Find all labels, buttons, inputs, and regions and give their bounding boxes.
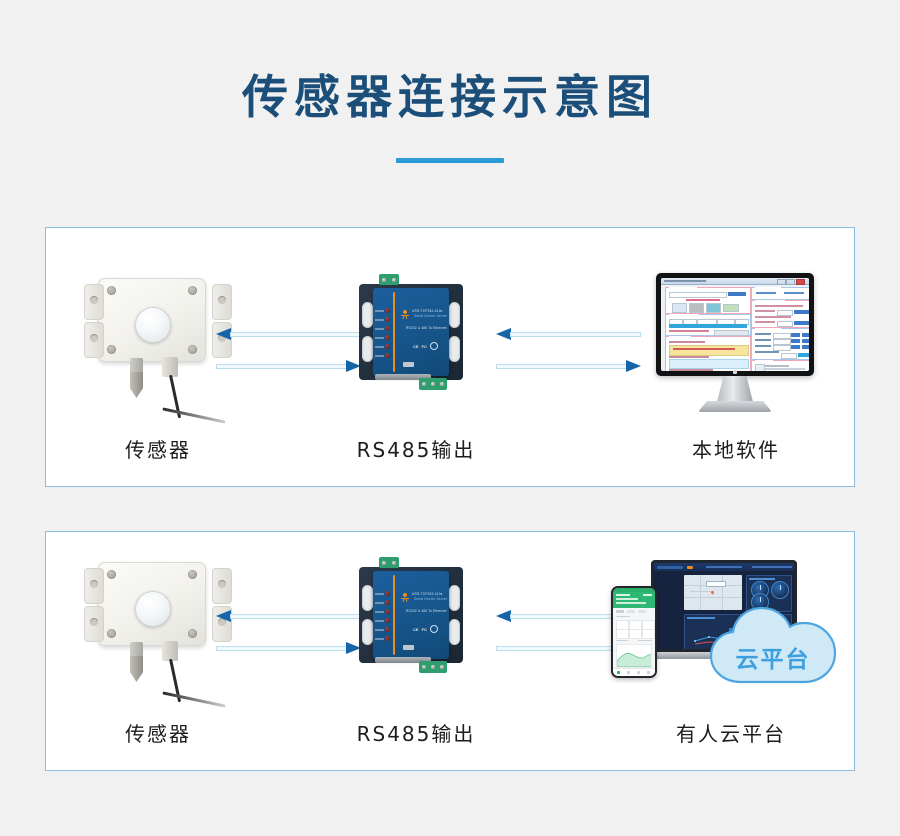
mount-slot [362,302,373,328]
sensor-mount-ear [84,322,104,358]
rs485-terminal-block [419,378,447,390]
diagram-panel-cloud-platform: USR-TCP232-410s Serial Device Server RS2… [45,531,855,771]
arrow-shaft [216,364,347,369]
connector-sensor-converter [216,328,361,374]
log-label [669,341,705,343]
vendor-name [765,365,789,367]
arrow-left [496,328,641,340]
write-button [794,321,809,325]
title-underline-rule [396,158,504,163]
sensor-enclosure [98,562,206,646]
converter-accent-curve [393,292,395,372]
arrow-head-left-icon [216,328,231,340]
arrow-head-right-icon [626,360,641,372]
arrow-right [216,642,361,654]
brand-logo-icon [401,310,409,319]
power-terminal-block [379,557,399,568]
mount-slot [449,302,460,328]
log-output-group [665,336,751,371]
vendor-detail [765,368,805,370]
status-led [385,353,390,358]
status-led [385,326,390,331]
led-label [375,611,384,613]
close-button [796,279,805,285]
converter-subtitle-text: Serial Device Server [414,314,447,318]
open-port-button [669,324,747,328]
sensor-mount-ear [212,568,232,604]
arrow-shaft [496,646,627,651]
mount-slot [449,619,460,645]
terminal-screw [382,278,386,282]
status-led [385,627,390,632]
ce-mark-icon: CE [413,627,419,632]
phone-trend-chart [616,644,652,668]
tab-alerts-icon[interactable] [637,671,640,674]
cloud-platform-icon: 云平台 [611,560,851,710]
maximize-button [786,279,795,285]
status-led [385,609,390,614]
device-combo [669,292,727,298]
field-label [755,316,791,318]
result-label [669,356,709,358]
map-pin-icon [710,590,714,594]
terminal-screw [422,382,426,386]
caption-sensor: 传感器 [98,718,218,747]
param-label [755,333,771,335]
converter-front-face: USR-TCP232-410s Serial Device Server RS2… [373,571,449,659]
parameter-group [751,328,809,360]
diagram-panel-local-software: USR-TCP232-410s Serial Device Server RS2… [45,227,855,487]
terminal-screw [422,665,426,669]
converter-model-text: USR-TCP232-410s [412,309,442,313]
led-label [375,593,384,595]
group-title [755,287,781,290]
sensor-screw [188,629,197,638]
dashboard-header [654,563,794,571]
log-hex-line [673,348,735,350]
connector-sensor-converter [216,610,361,656]
param-label [755,351,779,353]
status-led [385,317,390,322]
page-header: 传感器连接示意图 [0,0,900,163]
sensor-cable-trail [162,407,225,423]
ce-mark-icon: CE [413,344,419,349]
desktop-monitor-icon [656,273,814,415]
mode-group [751,287,809,300]
connection-settings-group [665,314,751,336]
param-button [791,339,800,343]
monitor-power-led [733,370,737,374]
sensor-mount-ear [84,606,104,642]
caption-sensor: 传感器 [98,434,218,463]
caption-rs485-output: RS485输出 [341,718,491,747]
fcc-mark-icon: FC [422,627,427,632]
led-label [375,638,384,640]
converter-accent-curve [393,575,395,655]
group-title [755,328,781,331]
terminal-screw [431,665,435,669]
monitor-screen [661,278,809,371]
caption-cloud-platform: 有人云平台 [646,718,816,747]
terminal-screw [392,278,396,282]
status-led [385,600,390,605]
address-input [777,310,793,316]
tab-profile-icon[interactable] [647,671,650,674]
arrow-head-left-icon [496,328,511,340]
sensor-probe-shaft [130,358,143,374]
arrow-head-left-icon [496,610,511,622]
led-label [375,602,384,604]
sensor-probe-tip [130,656,143,682]
mount-slot [362,336,373,362]
vendor-logo [755,364,765,371]
minimize-button [777,279,786,285]
dashboard-title [706,566,742,569]
phone-area-chart-svg [617,645,652,667]
log-box-blue [669,359,749,369]
cloud-label: 云平台 [707,640,839,674]
param-button [791,345,800,349]
status-led [385,591,390,596]
sensor-screw [107,570,116,579]
tab-home-icon[interactable] [617,671,620,674]
arrow-right [216,360,361,372]
status-led [385,636,390,641]
status-led [385,344,390,349]
phone-screen [613,588,655,676]
led-label [375,328,384,330]
sensor-dome [135,307,171,343]
connect-button [728,292,746,296]
cloud-badge: 云平台 [707,604,839,688]
caption-rs485-output: RS485输出 [341,434,491,463]
group-title [755,360,773,363]
led-label [375,629,384,631]
mount-slot [362,619,373,645]
sensor-screw [188,286,197,295]
sensor-screw [188,345,197,354]
page-title: 传感器连接示意图 [0,74,900,120]
map-tooltip [706,581,726,587]
weee-mark-icon [430,342,438,350]
advanced-button [714,330,749,336]
group-title [669,287,697,290]
group-title [669,336,691,339]
hint-text [669,330,709,332]
power-terminal-block [379,274,399,285]
param-label [755,345,771,347]
arrow-right [496,360,641,372]
sensor-probe-tip [130,372,143,398]
apply-button [798,353,809,357]
phone-metric-card [616,629,629,639]
field-label [755,310,775,312]
write-input [777,321,793,327]
sensor-screw [107,286,116,295]
fcc-mark-icon: FC [422,344,427,349]
param-button [802,339,809,343]
device-select-group [665,287,751,314]
product-thumb [689,303,704,313]
arrow-shaft [230,614,361,619]
led-label [375,346,384,348]
certification-marks: CE FC [413,625,438,633]
arrow-shaft [510,332,641,337]
param-button [802,345,809,349]
param-input [773,345,791,351]
connector-converter-monitor [496,328,641,374]
monitor-bezel [656,273,814,376]
panel-title [749,578,775,580]
phone-tab-bar[interactable] [613,668,655,676]
address-hint [755,305,803,307]
terminal-screw [431,382,435,386]
dashboard-badge [687,566,693,569]
led-label [375,355,384,357]
arrow-shaft [496,364,627,369]
local-software-ui [661,278,809,371]
status-led [385,335,390,340]
sensor-screw [107,629,116,638]
mount-slot [362,585,373,611]
led-label [375,319,384,321]
arrow-shaft [230,332,361,337]
mount-slot [449,585,460,611]
sensor-mount-ear [84,568,104,604]
certification-marks: CE FC [413,342,438,350]
param-button [802,333,809,337]
led-label [375,337,384,339]
sensor-device-icon [84,562,232,712]
param-label [755,339,771,341]
rs485-converter-icon: USR-TCP232-410s Serial Device Server RS2… [359,557,469,687]
converter-description-text: RS232 & 485 To Ethernet [406,609,447,613]
product-thumb [672,303,687,313]
terminal-screw [440,665,444,669]
log-box-yellow [669,345,749,356]
rs485-terminal-block [419,661,447,673]
dashboard-logo [657,566,683,569]
sensor-probe-shaft [130,642,143,658]
converter-model-text: USR-TCP232-410s [412,592,442,596]
monitor-stand-base [698,401,772,412]
converter-description-text: RS232 & 485 To Ethernet [406,326,447,330]
arrow-left [216,328,361,340]
led-label [375,620,384,622]
terminal-screw [440,382,444,386]
dashboard-subtitle [752,566,792,569]
radio-option-b [784,292,804,294]
rs485-converter-icon: USR-TCP232-410s Serial Device Server RS2… [359,274,469,404]
brand-logo-icon [401,593,409,602]
sensor-screw [107,345,116,354]
arrow-left [216,610,361,622]
sensor-enclosure [98,278,206,362]
software-titlebar [661,278,809,285]
gauge-meter [771,581,789,599]
mount-slot [449,336,460,362]
led-label [375,310,384,312]
sensor-mount-ear [212,284,232,320]
converter-subtitle-text: Serial Device Server [414,597,447,601]
monitor-stand-neck [717,376,753,402]
converter-front-face: USR-TCP232-410s Serial Device Server RS2… [373,288,449,376]
sensor-screw [188,570,197,579]
group-title [755,300,785,303]
address-group [751,300,809,328]
param-button [791,333,800,337]
usb-port [403,362,414,367]
terminal-screw [392,561,396,565]
caption-local-software: 本地软件 [666,434,806,463]
about-group [751,360,809,371]
product-thumb [706,303,721,313]
arrow-head-left-icon [216,610,231,622]
terminal-screw [382,561,386,565]
arrow-shaft [216,646,347,651]
phone-app-header [613,592,655,608]
group-title [669,314,699,317]
sensor-device-icon [84,278,232,428]
tab-data-icon[interactable] [627,671,630,674]
product-thumb [723,304,739,312]
param-input [781,353,797,359]
status-led [385,308,390,313]
phone-metric-card [642,629,655,639]
footer-note [669,369,713,371]
software-title-text [664,280,706,282]
phone-metric-card [629,629,642,639]
sensor-cable-trail [162,691,225,707]
sensor-mount-ear [84,284,104,320]
mobile-phone [611,586,657,678]
product-heading [686,299,720,301]
weee-mark-icon [430,625,438,633]
sensor-dome [135,591,171,627]
usb-port [403,645,414,650]
status-led [385,618,390,623]
field-label [755,321,775,323]
radio-option-a [756,292,776,294]
read-button [794,310,809,314]
